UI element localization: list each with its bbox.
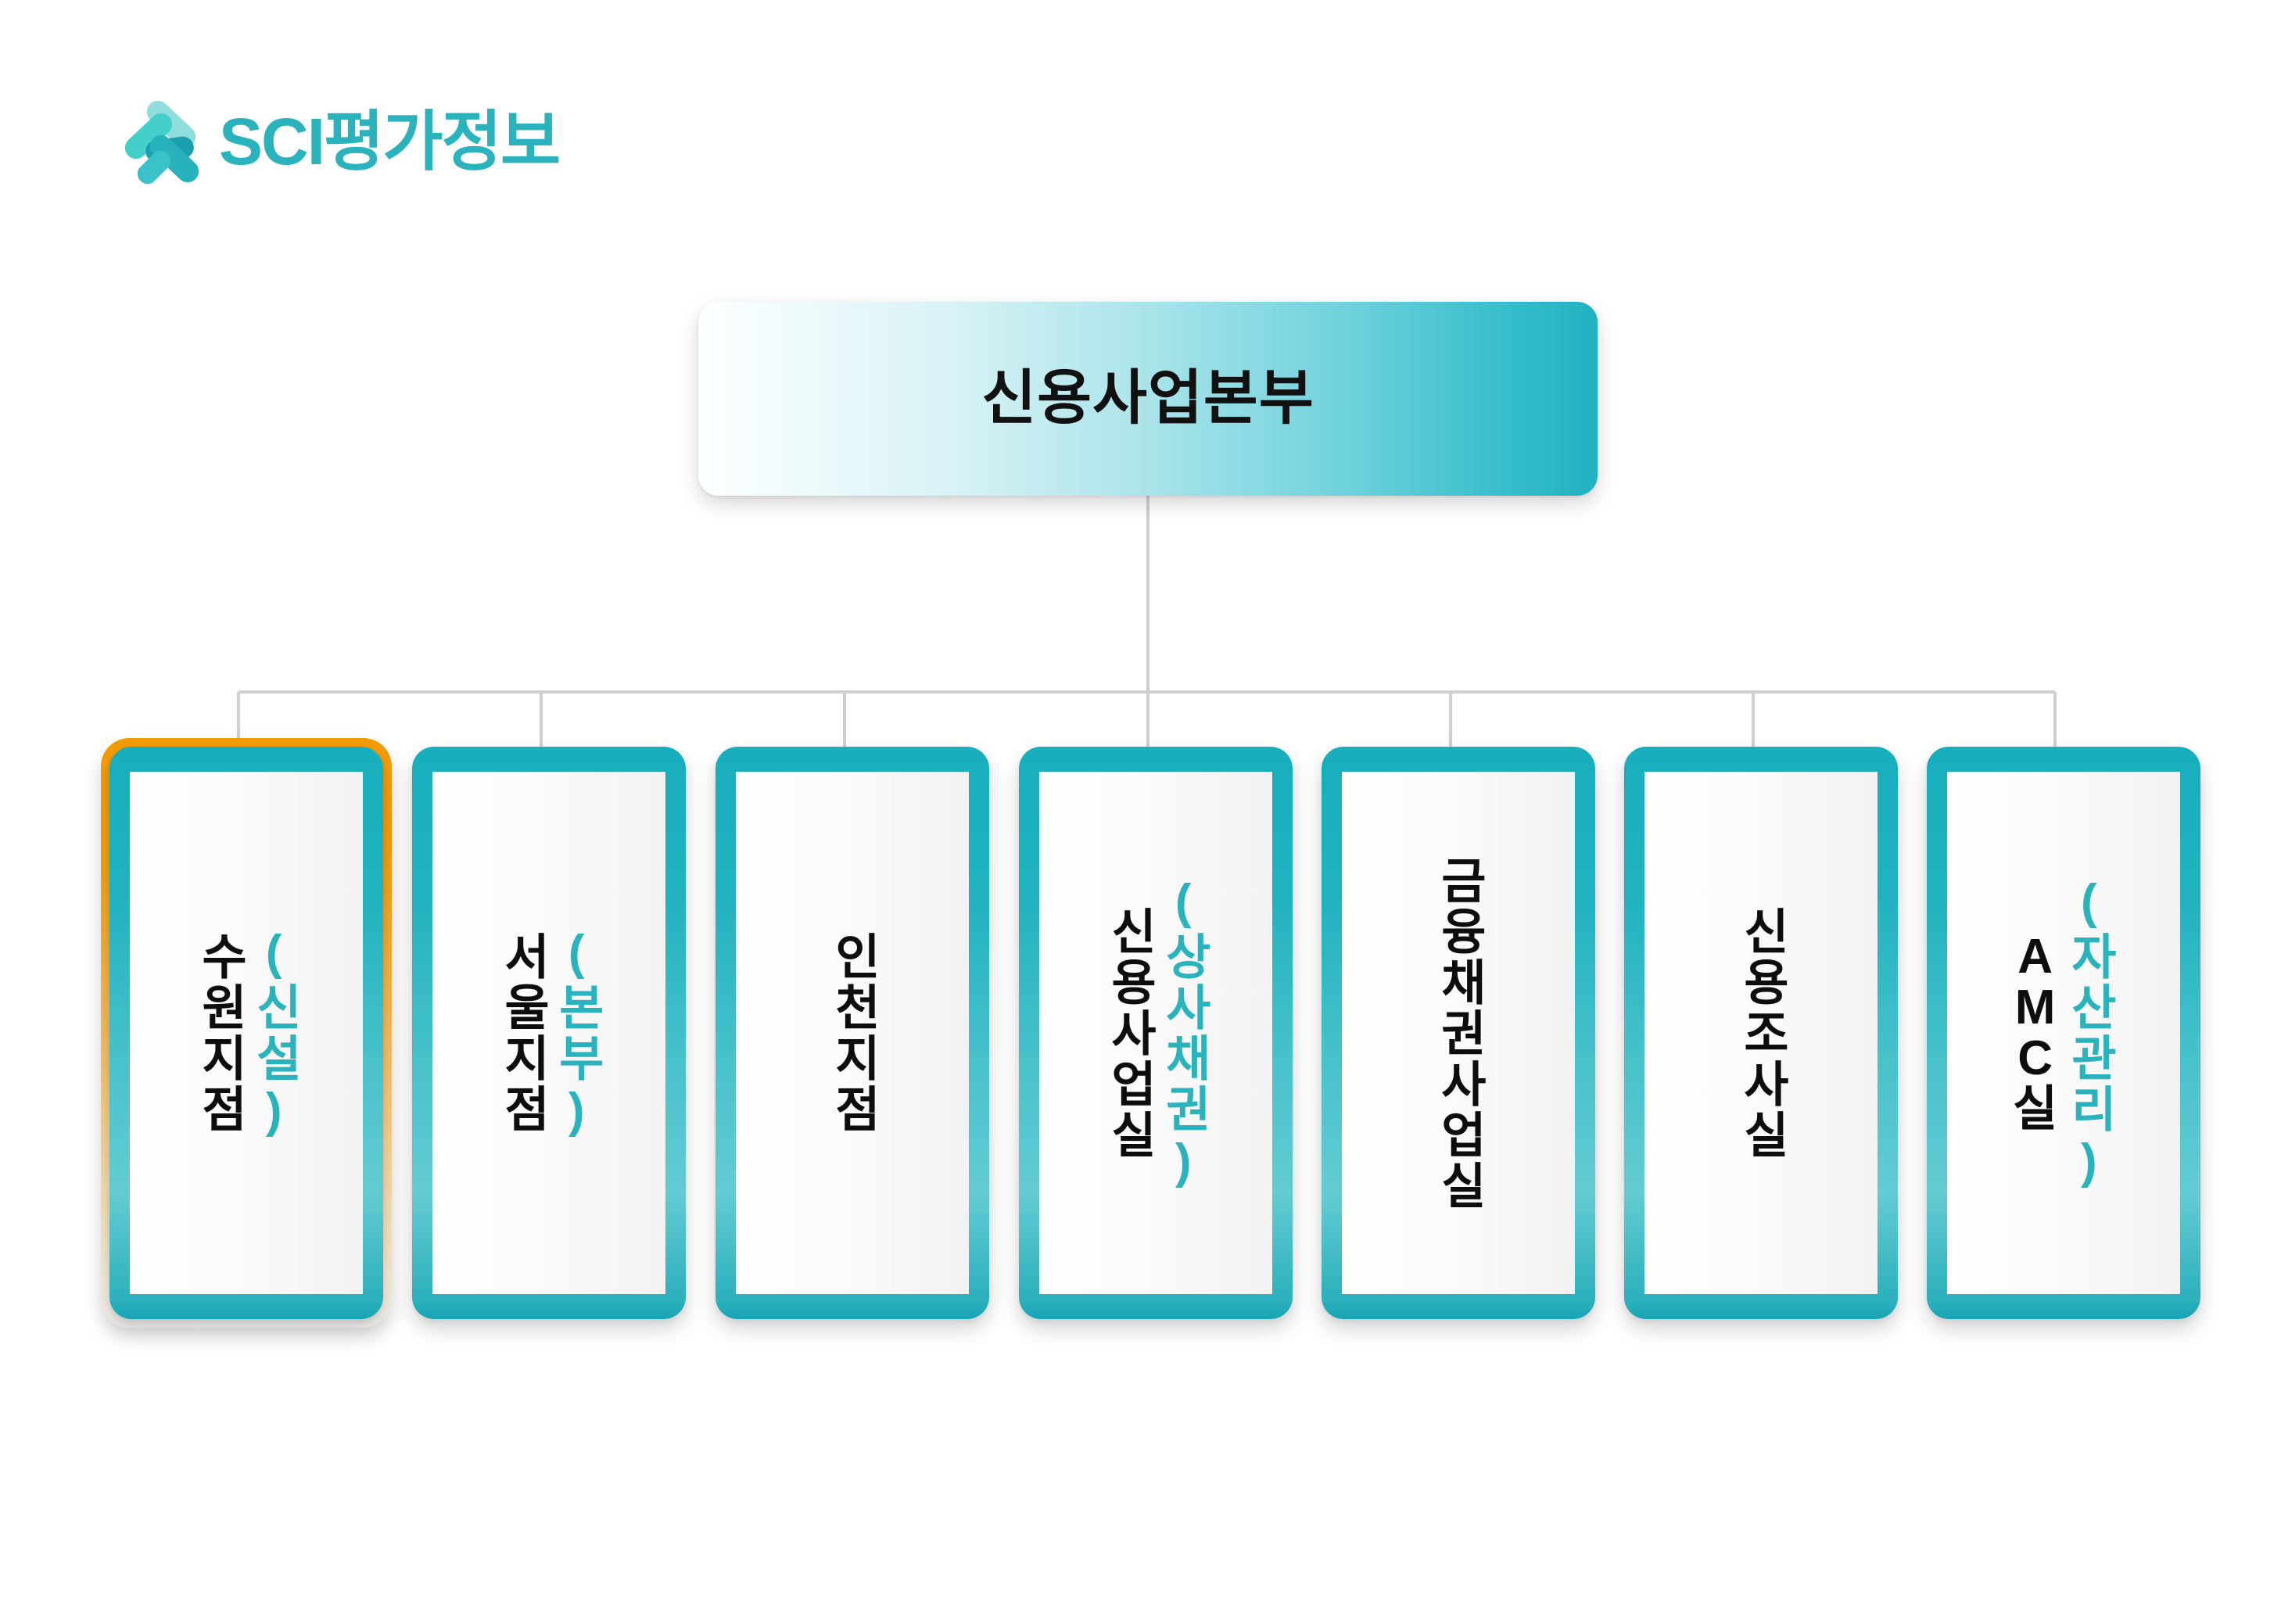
- org-node-frame: AMC실 (자산관리): [1927, 747, 2200, 1319]
- org-node-label: 서울지점: [496, 931, 547, 1135]
- org-node-text: AMC실 (자산관리): [2013, 875, 2114, 1191]
- org-node-label-char: 실: [2013, 1084, 2060, 1135]
- org-node-suwon[interactable]: 수원지점 (신설): [109, 747, 383, 1319]
- org-node-text: 서울지점 (본부): [496, 926, 601, 1140]
- org-node-sublabel: (신설): [248, 926, 299, 1140]
- org-node-label-char: M: [2015, 982, 2058, 1033]
- org-node-inner: 인천지점: [736, 772, 969, 1294]
- org-node-label: 인천지점: [827, 931, 878, 1135]
- org-node-label: 수원지점: [193, 931, 245, 1135]
- org-node-label-char: A: [2017, 931, 2055, 982]
- org-leaf-row: 수원지점 (신설) 서울지점 (본부) 인천지점: [0, 747, 2281, 1341]
- org-node-financial-bond[interactable]: 금융채권사업실: [1322, 747, 1595, 1319]
- org-node-frame: 금융채권사업실: [1322, 747, 1595, 1319]
- org-node-sublabel: (본부): [551, 926, 602, 1140]
- org-node-inner: AMC실 (자산관리): [1947, 772, 2180, 1294]
- org-node-label: 신용조사실: [1735, 906, 1787, 1160]
- org-node-credit-business[interactable]: 신용사업실 (상사채권): [1019, 747, 1293, 1319]
- org-node-sublabel: (상사채권): [1157, 875, 1209, 1191]
- org-node-text: 신용사업실 (상사채권): [1103, 875, 1208, 1191]
- org-node-inner: 신용사업실 (상사채권): [1039, 772, 1272, 1294]
- org-node-inner: 금융채권사업실: [1342, 772, 1575, 1294]
- org-node-amc[interactable]: AMC실 (자산관리): [1927, 747, 2200, 1319]
- org-node-label: 신용사업실: [1103, 906, 1154, 1160]
- org-node-frame: 인천지점: [716, 747, 989, 1319]
- org-node-root-label: 신용사업본부: [981, 369, 1314, 428]
- org-node-sublabel: (자산관리): [2063, 875, 2114, 1191]
- org-node-credit-research[interactable]: 신용조사실: [1624, 747, 1898, 1319]
- org-node-text: 금융채권사업실: [1433, 855, 1484, 1211]
- org-node-incheon[interactable]: 인천지점: [716, 747, 989, 1319]
- org-node-frame: 신용조사실: [1624, 747, 1898, 1319]
- sci-s-mark-icon: [117, 98, 205, 185]
- org-node-label: AMC실: [2013, 931, 2060, 1135]
- org-node-seoul[interactable]: 서울지점 (본부): [412, 747, 686, 1319]
- org-node-label-char: C: [2017, 1033, 2055, 1084]
- org-node-inner: 서울지점 (본부): [432, 772, 665, 1294]
- brand-logo: SCI평가정보: [117, 98, 559, 185]
- org-node-text: 신용조사실: [1735, 906, 1787, 1160]
- org-node-label: 금융채권사업실: [1433, 855, 1484, 1211]
- org-node-root[interactable]: 신용사업본부: [698, 302, 1598, 496]
- brand-logo-text: SCI평가정보: [219, 109, 559, 174]
- org-node-text: 수원지점 (신설): [193, 926, 299, 1140]
- org-node-inner: 신용조사실: [1644, 772, 1878, 1294]
- org-node-frame: 서울지점 (본부): [412, 747, 686, 1319]
- org-node-text: 인천지점: [827, 931, 878, 1135]
- org-node-frame: 수원지점 (신설): [109, 747, 383, 1319]
- org-node-frame: 신용사업실 (상사채권): [1019, 747, 1293, 1319]
- org-node-inner: 수원지점 (신설): [130, 772, 363, 1294]
